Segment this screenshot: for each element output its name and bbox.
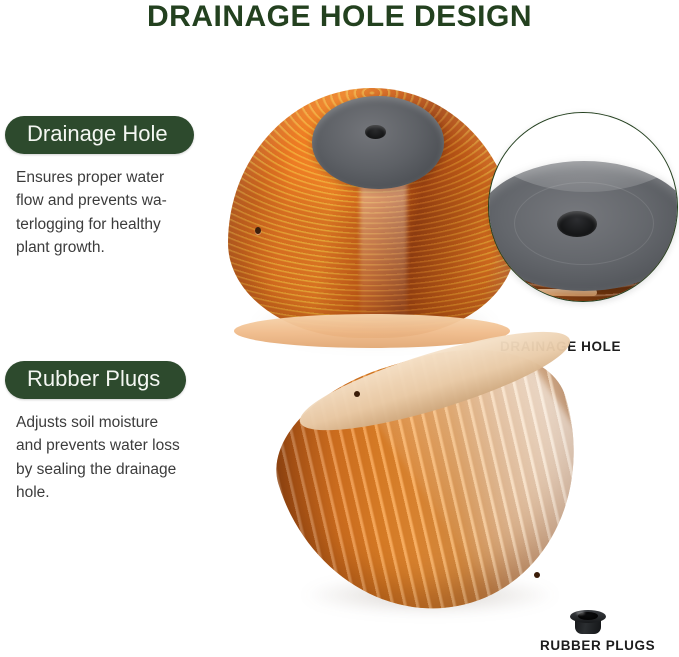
magnifier-inset xyxy=(488,112,678,302)
feature-block-drainage-hole: Drainage Hole Ensures proper water flow … xyxy=(0,116,230,260)
plug-highlight xyxy=(576,611,585,615)
badge-rubber-plugs: Rubber Plugs xyxy=(5,361,186,399)
feature-body-rubber-plugs: Adjusts soil moisture and prevents water… xyxy=(16,411,202,505)
feature-body-drainage-hole: Ensures proper water flow and prevents w… xyxy=(16,166,202,260)
feature-line: Ensures proper water xyxy=(16,166,202,190)
pot-drainage-hole xyxy=(365,125,386,139)
feature-line: hole. xyxy=(16,481,202,505)
feature-line: plant growth. xyxy=(16,236,202,260)
magnifier-content xyxy=(488,147,678,302)
bottom-pot-image xyxy=(285,358,585,613)
main-pot-image xyxy=(228,88,516,346)
badge-drainage-hole: Drainage Hole xyxy=(5,116,194,154)
feature-line: and prevents water loss xyxy=(16,434,202,458)
pot-base-plate xyxy=(312,96,444,189)
feature-block-rubber-plugs: Rubber Plugs Adjusts soil moisture and p… xyxy=(0,361,230,505)
feature-line: Adjusts soil moisture xyxy=(16,411,202,435)
page-title: DRAINAGE HOLE DESIGN xyxy=(0,0,679,34)
feature-line: by sealing the drainage xyxy=(16,458,202,482)
caption-rubber-plugs: RUBBER PLUGS xyxy=(540,638,655,653)
zoom-drainage-hole xyxy=(557,211,597,237)
feature-line: terlogging for healthy xyxy=(16,213,202,237)
feature-line: flow and prevents wa- xyxy=(16,189,202,213)
infographic-canvas: DRAINAGE HOLE DESIGN Drainage Hole Ensur… xyxy=(0,0,679,657)
rubber-plug-image xyxy=(570,607,606,637)
zoom-side-hole xyxy=(509,283,516,290)
